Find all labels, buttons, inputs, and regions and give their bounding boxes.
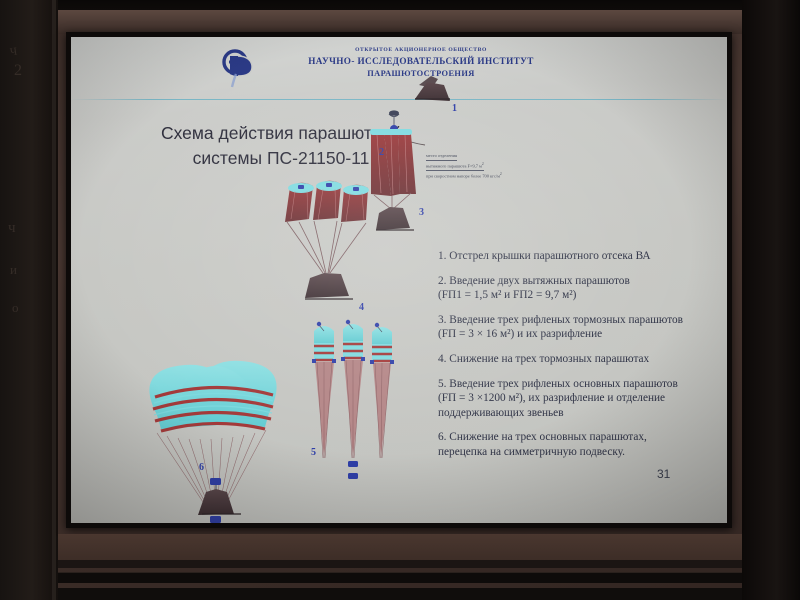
wall-ledge-lower	[58, 572, 742, 583]
stage-4-canopies	[285, 181, 369, 222]
wall-mark-3: ч	[8, 220, 16, 237]
presentation-slide: ОТКРЫТОЕ АКЦИОНЕРНОЕ ОБЩЕСТВО НАУЧНО- ИС…	[71, 37, 727, 523]
step-item-2: 2. Введение двух вытяжных парашютов (FП1…	[438, 274, 684, 303]
marker-1: 1	[452, 103, 457, 114]
stage-6-link-upper	[210, 516, 221, 523]
projection-screen-frame: ОТКРЫТОЕ АКЦИОНЕРНОЕ ОБЩЕСТВО НАУЧНО- ИС…	[66, 32, 732, 528]
wall-mark-2: 2	[14, 62, 22, 80]
stage-3-capsule	[376, 207, 410, 230]
stage-3-canopies	[370, 129, 416, 196]
step-item-3: 3. Введение трех рифленых тормозных пара…	[438, 313, 684, 342]
stage-6-canopies	[149, 361, 276, 514]
deployment-steps-list: 1. Отстрел крышки парашютного отсека ВА …	[438, 249, 684, 470]
room-photograph: Ч 2 ч и о	[0, 0, 800, 600]
stage-6-group	[149, 361, 276, 523]
step-2-text: 2. Введение двух вытяжных парашютов	[438, 275, 630, 287]
step-item-1: 1. Отстрел крышки парашютного отсека ВА	[438, 249, 684, 264]
wall-mark-4: и	[10, 262, 17, 278]
wall-right-pillar	[742, 0, 800, 600]
stage-5-link-upper	[348, 461, 358, 467]
marker-4: 4	[359, 302, 364, 313]
step-item-5: 5. Введение трех рифленых основных параш…	[438, 377, 684, 421]
marker-2: 2	[379, 147, 384, 158]
marker-5: 5	[311, 447, 316, 458]
projection-screen: ОТКРЫТОЕ АКЦИОНЕРНОЕ ОБЩЕСТВО НАУЧНО- ИС…	[71, 37, 727, 523]
stage-5-canopies	[312, 320, 394, 458]
stage-5-link-lower	[348, 473, 358, 479]
stage-1-group	[415, 76, 450, 101]
marker-6: 6	[199, 462, 204, 473]
stage-3-group	[370, 129, 416, 230]
wall-mark-5: о	[12, 300, 19, 316]
marker-3: 3	[419, 207, 424, 218]
screen-top-band	[58, 10, 742, 34]
stage-4-risers	[287, 221, 366, 273]
stage-5-group	[312, 320, 394, 479]
step-2-formula: (FП1 = 1,5 м² и FП2 = 9,7 м²)	[438, 289, 576, 301]
stage-4-capsule	[305, 273, 349, 298]
wall-left-edge	[52, 0, 56, 600]
step-item-4: 4. Снижение на трех тормозных парашютах	[438, 352, 684, 367]
wall-left-pillar: Ч 2 ч и о	[0, 0, 58, 600]
wall-mark-1: Ч	[9, 46, 18, 59]
wall-ledge-middle	[58, 560, 742, 568]
page-number: 31	[657, 467, 670, 481]
step-item-6: 6. Снижение на трех основных парашютах, …	[438, 430, 684, 459]
stage-4-group	[285, 181, 369, 299]
